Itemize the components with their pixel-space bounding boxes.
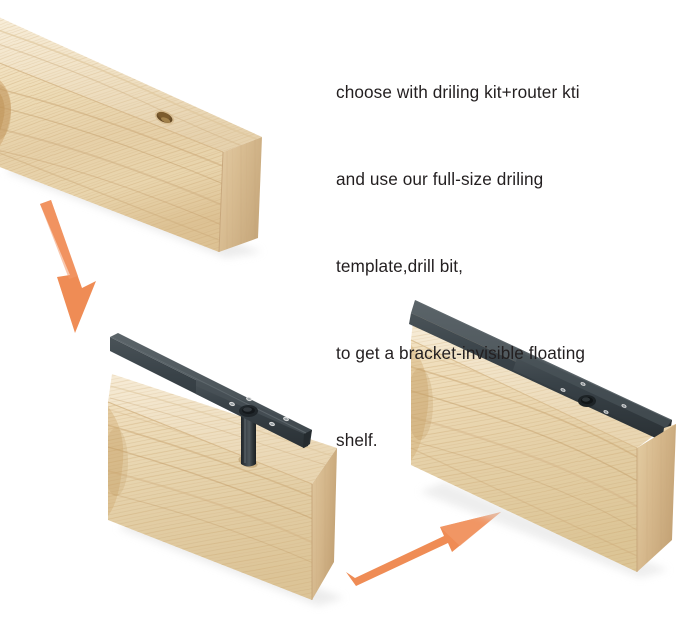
panel-plank-with-hole — [0, 0, 280, 280]
caption-line-2: and use our full-size driling — [336, 165, 670, 194]
arrow-step1-to-step2 — [40, 200, 96, 333]
panel-bracket-inserted — [100, 333, 360, 620]
instruction-image: choose with driling kit+router kti and u… — [0, 0, 679, 630]
caption-line-3: template,drill bit, — [336, 252, 670, 281]
caption-line-4: to get a bracket-invisible floating — [336, 339, 670, 368]
arrow-step2-to-step3 — [346, 512, 501, 586]
caption-line-5: shelf. — [336, 426, 670, 455]
instruction-caption: choose with driling kit+router kti and u… — [336, 20, 670, 513]
plank1-end-grain-lines — [219, 137, 262, 252]
caption-line-1: choose with driling kit+router kti — [336, 78, 670, 107]
bracket-rod-collar — [239, 405, 258, 417]
